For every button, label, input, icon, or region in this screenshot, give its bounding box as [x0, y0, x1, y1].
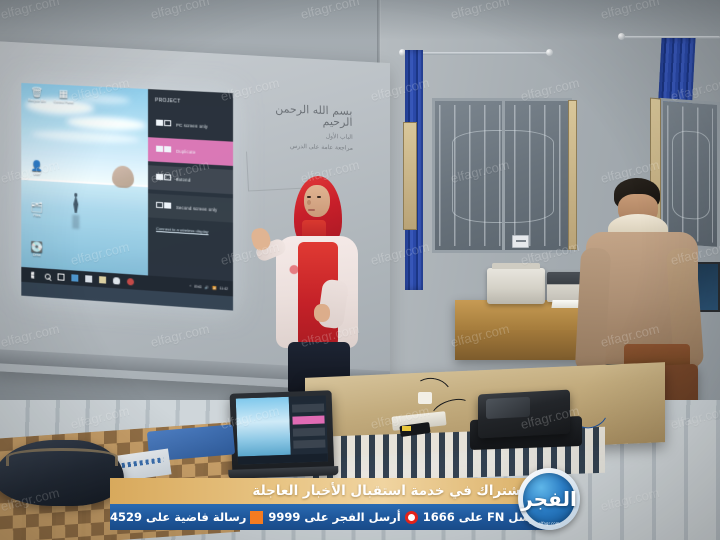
monitor-duplicate-icon [156, 144, 172, 156]
subscribe-segment-orange[interactable]: رسالة فاضية على 4529 [110, 510, 263, 524]
connect-wireless-display-link[interactable]: Connect to a wireless display [156, 226, 208, 234]
subscribe-segment-vodafone[interactable]: أرسل الفجر على 9999 [268, 510, 417, 524]
pdf-icon[interactable] [127, 278, 134, 285]
search-icon[interactable] [45, 273, 51, 279]
logo-wordmark: الفجر [521, 489, 577, 509]
projector [478, 390, 570, 439]
project-option-extend[interactable]: Extend [148, 165, 233, 194]
user-icon: 👤 [24, 160, 49, 172]
desktop-wallpaper: 🗑 Recycle Bin ▦ Control Panel 👤 User 🗂 F… [21, 83, 148, 276]
project-panel-title: PROJECT [155, 97, 181, 104]
laptop-wallpaper [236, 397, 291, 457]
laptop-screen [236, 395, 328, 464]
screenshot-root: بسم الله الرحمن الرحيم الباب الأول مراجع… [0, 0, 720, 540]
vodafone-shortcode-text: أرسل الفجر على 9999 [268, 510, 400, 524]
folder-icon[interactable] [99, 276, 106, 283]
wallpaper-figure [72, 193, 79, 215]
adapter-label [402, 426, 411, 431]
start-icon[interactable] [31, 272, 38, 279]
onedrive-icon[interactable] [113, 277, 120, 284]
project-flyout-panel: PROJECT PC screen only Duplicate Extend … [148, 89, 233, 281]
desktop-icon-files[interactable]: 🗂 Files [24, 202, 49, 219]
desktop-icon-control-panel[interactable]: ▦ Control Panel [51, 88, 77, 105]
lowered-hand [314, 304, 330, 322]
window-mullion [502, 101, 505, 250]
project-option-duplicate[interactable]: Duplicate [148, 137, 233, 166]
curtain-rod-finial [618, 33, 625, 40]
vodafone-logo-icon [405, 511, 418, 524]
explorer-icon[interactable] [85, 275, 92, 282]
project-option-second-screen-only[interactable]: Second screen only [148, 193, 233, 222]
folder-icon: 🗂 [24, 202, 49, 214]
bag-strap [6, 448, 118, 466]
monitor-extend-icon [156, 172, 172, 184]
elfagr-logo[interactable]: الفجر elfagr.com [518, 468, 580, 530]
logo-disc: الفجر [523, 473, 575, 525]
monitor-single-icon [156, 118, 172, 130]
projected-desktop: 🗑 Recycle Bin ▦ Control Panel 👤 User 🗂 F… [21, 83, 233, 311]
volume-icon[interactable]: 🔊 [205, 285, 209, 289]
system-tray: ^ ENG 🔊 📶 11:42 [190, 278, 228, 296]
laptop[interactable] [230, 390, 335, 478]
tray-language[interactable]: ENG [194, 284, 201, 289]
laptop-project-panel [289, 395, 328, 454]
banner-subscribe-band: أرسل FN على 1666 أرسل الفجر على 9999 رسا… [110, 504, 550, 530]
edge-icon[interactable] [71, 274, 78, 281]
monitor-second-icon [156, 200, 172, 212]
project-option-pc-screen-only[interactable]: PC screen only [148, 111, 233, 140]
ceiling-shadow [0, 0, 720, 40]
banner-headline-band: للاشتراك في خدمة استقبال الأخبار العاجلة [110, 478, 550, 504]
wallpaper-rock [112, 165, 134, 188]
curtain-rod-left [402, 52, 552, 55]
wooden-frame-center [568, 100, 577, 250]
presenter-woman [258, 176, 376, 391]
banner-headline: للاشتراك في خدمة استقبال الأخبار العاجلة [252, 483, 536, 499]
orange-shortcode-text: رسالة فاضية على 4529 [110, 510, 246, 524]
printer [487, 268, 545, 304]
desktop-icon-drive[interactable]: 💽 Drive [24, 241, 49, 259]
drive-icon: 💽 [24, 241, 49, 254]
news-ticker-banner: للاشتراك في خدمة استقبال الأخبار العاجلة… [110, 478, 550, 530]
tray-chevron-icon[interactable]: ^ [190, 284, 192, 288]
window-center [432, 98, 572, 253]
desktop-icon-user[interactable]: 👤 User [24, 160, 49, 177]
orange-logo-icon [250, 511, 263, 524]
tray-clock[interactable]: 11:42 [220, 286, 228, 291]
wall-socket [512, 235, 529, 248]
desktop-icon-recycle-bin[interactable]: 🗑 Recycle Bin [24, 87, 49, 104]
logo-subtitle: elfagr.com [518, 521, 580, 526]
network-icon[interactable]: 📶 [212, 285, 216, 289]
wooden-frame-left [403, 122, 417, 230]
power-plug [418, 392, 432, 404]
task-view-icon[interactable] [58, 273, 65, 280]
curtain-rod-finial [546, 49, 553, 56]
